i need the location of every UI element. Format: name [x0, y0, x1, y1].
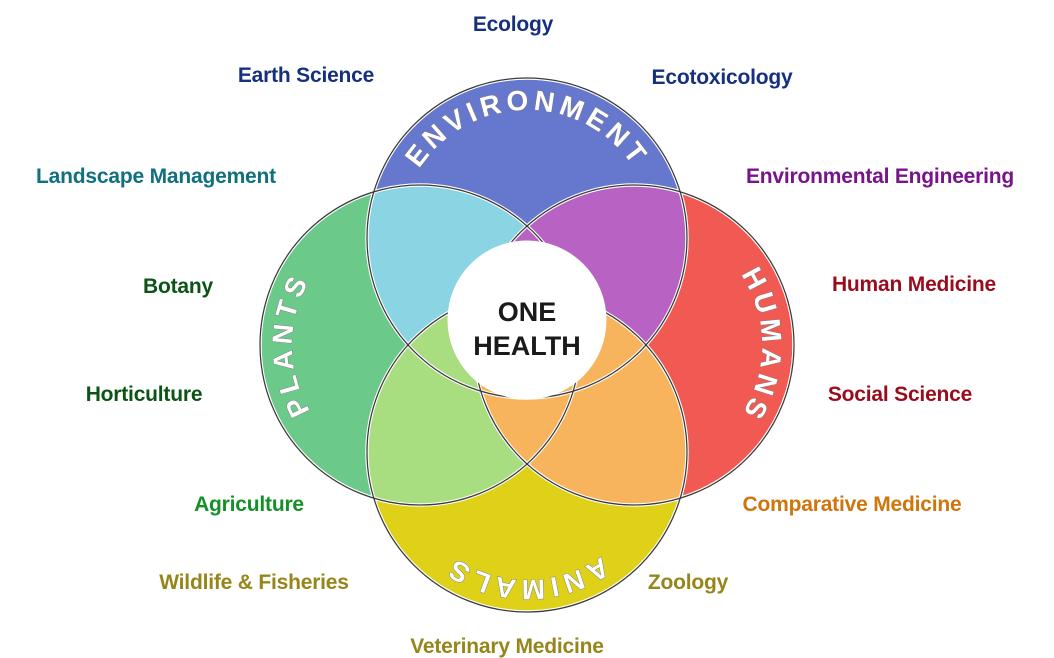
discipline-label-horticulture: Horticulture [86, 384, 203, 405]
discipline-label-comparative-medicine: Comparative Medicine [743, 494, 962, 515]
discipline-label-zoology: Zoology [648, 572, 728, 593]
discipline-label-ecology: Ecology [473, 14, 553, 35]
discipline-label-ecotoxicology: Ecotoxicology [652, 67, 793, 88]
center-label-one: ONE [498, 297, 557, 327]
discipline-label-human-medicine: Human Medicine [832, 274, 996, 295]
discipline-label-wildlife-fisheries: Wildlife & Fisheries [159, 572, 349, 593]
discipline-label-social-science: Social Science [828, 384, 972, 405]
venn-svg: ONE HEALTH ENVIRONMENT HUMANS ANIMALS PL… [0, 0, 1054, 654]
discipline-label-landscape-management: Landscape Management [36, 166, 276, 187]
discipline-label-earth-science: Earth Science [238, 65, 374, 86]
one-health-diagram: ONE HEALTH ENVIRONMENT HUMANS ANIMALS PL… [0, 0, 1054, 654]
discipline-label-agriculture: Agriculture [194, 494, 304, 515]
center-label-health: HEALTH [473, 331, 581, 361]
discipline-label-environmental-engineering: Environmental Engineering [746, 166, 1014, 187]
discipline-label-botany: Botany [143, 276, 213, 297]
